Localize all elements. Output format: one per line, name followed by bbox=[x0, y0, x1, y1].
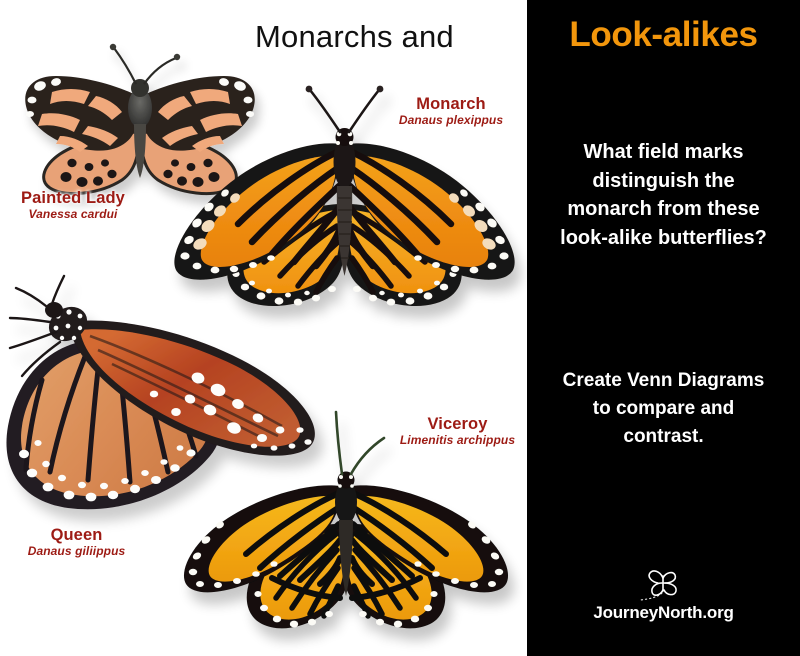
butterfly-icon bbox=[638, 569, 690, 601]
page-title-left: Monarchs and bbox=[255, 19, 454, 55]
queen-common-name: Queen bbox=[14, 527, 139, 544]
viceroy-scientific-name: Limenitis archippus bbox=[390, 434, 525, 446]
monarch-common-name: Monarch bbox=[385, 96, 517, 113]
info-panel: Look-alikes What field marks distinguish… bbox=[527, 0, 800, 656]
viceroy-photo bbox=[176, 412, 516, 654]
poster-canvas: Painted Lady Vanessa cardui Monarch Dana… bbox=[0, 0, 800, 656]
monarch-scientific-name: Danaus plexippus bbox=[385, 114, 517, 126]
journey-north-logo[interactable]: JourneyNorth.org bbox=[527, 569, 800, 623]
queen-scientific-name: Danaus giliippus bbox=[14, 545, 139, 557]
page-title-right: Look-alikes bbox=[527, 17, 800, 52]
viceroy-caption: Viceroy Limenitis archippus bbox=[390, 416, 525, 446]
painted-lady-common-name: Painted Lady bbox=[8, 190, 138, 207]
painted-lady-scientific-name: Vanessa cardui bbox=[8, 208, 138, 220]
panel-question-text: What field marks distinguish the monarch… bbox=[549, 138, 778, 252]
monarch-caption: Monarch Danaus plexippus bbox=[385, 96, 517, 126]
queen-caption: Queen Danaus giliippus bbox=[14, 527, 139, 557]
viceroy-common-name: Viceroy bbox=[390, 416, 525, 433]
panel-task-text: Create Venn Diagrams to compare and cont… bbox=[557, 367, 770, 451]
journey-north-url: JourneyNorth.org bbox=[527, 603, 800, 623]
painted-lady-caption: Painted Lady Vanessa cardui bbox=[8, 190, 138, 220]
